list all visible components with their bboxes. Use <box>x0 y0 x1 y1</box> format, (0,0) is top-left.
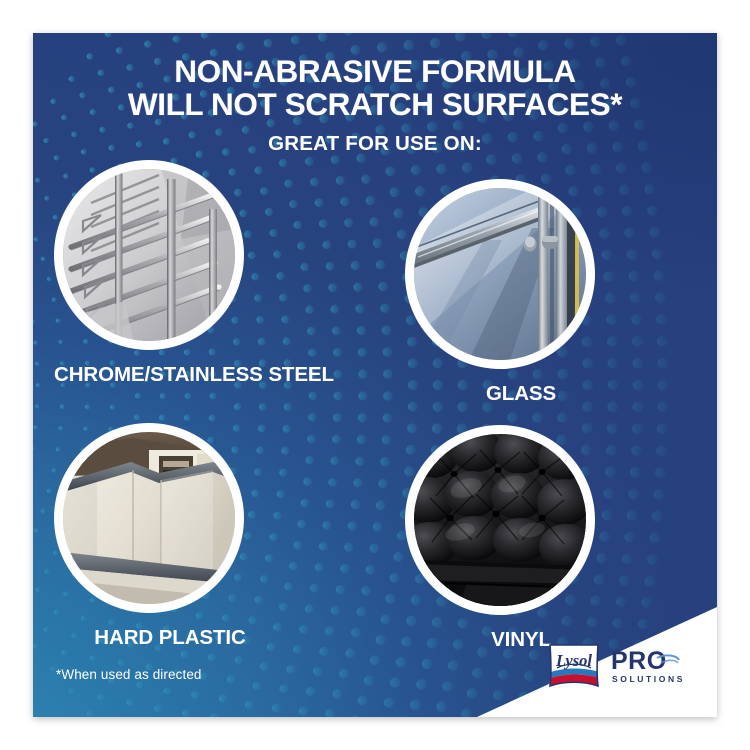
surface-item-plastic: HARD PLASTIC <box>54 423 286 650</box>
headline-line-1: NON-ABRASIVE FORMULA <box>174 53 576 89</box>
black-tufted-vinyl-upholstery-photo <box>414 434 586 606</box>
svg-text:Lysol: Lysol <box>555 651 592 670</box>
surface-circle-chrome <box>54 160 244 350</box>
poster-panel: NON-ABRASIVE FORMULA WILL NOT SCRATCH SU… <box>33 33 717 717</box>
glass-panel-door-photo <box>414 188 586 360</box>
headline: NON-ABRASIVE FORMULA WILL NOT SCRATCH SU… <box>33 55 717 122</box>
surface-circle-vinyl <box>405 425 595 615</box>
surface-item-chrome: CHROME/STAINLESS STEEL <box>54 160 286 387</box>
svg-text:SOLUTIONS: SOLUTIONS <box>612 674 685 684</box>
lysol-logo-icon: Lysol <box>546 642 602 690</box>
surface-label-plastic: HARD PLASTIC <box>54 626 286 650</box>
footnote: *When used as directed <box>56 667 202 682</box>
surface-item-vinyl: VINYL <box>405 425 637 652</box>
headline-block: NON-ABRASIVE FORMULA WILL NOT SCRATCH SU… <box>33 55 717 156</box>
subheadline: GREAT FOR USE ON: <box>33 132 717 156</box>
surface-label-glass: GLASS <box>405 382 637 406</box>
pro-solutions-logo-icon: PRO SOLUTIONS <box>611 645 693 687</box>
stainless-steel-shelving-photo <box>63 169 235 341</box>
surface-circle-glass <box>405 179 595 369</box>
svg-text:PRO: PRO <box>611 647 667 675</box>
surface-circle-plastic <box>54 423 244 613</box>
hard-plastic-partition-photo <box>63 432 235 604</box>
poster-root: NON-ABRASIVE FORMULA WILL NOT SCRATCH SU… <box>0 0 750 750</box>
surface-item-glass: GLASS <box>405 179 637 406</box>
logo-lockup: Lysol PRO SOLUTIONS <box>546 642 693 690</box>
headline-line-2: WILL NOT SCRATCH SURFACES* <box>33 88 717 121</box>
surface-label-chrome: CHROME/STAINLESS STEEL <box>54 363 286 387</box>
